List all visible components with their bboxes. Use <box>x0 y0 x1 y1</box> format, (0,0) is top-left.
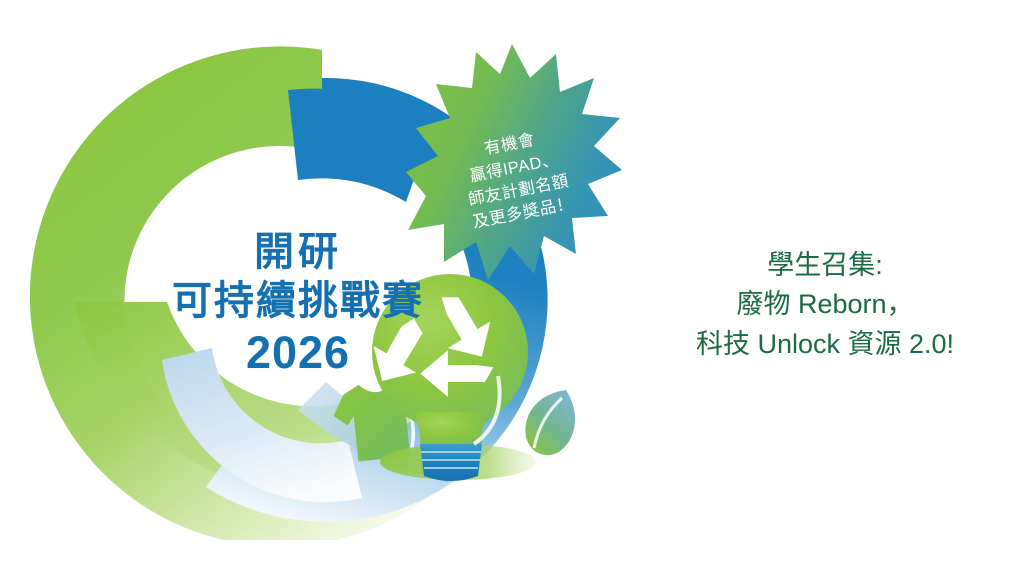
student-call-slogan: 學生召集: 廢物 Reborn， 科技 Unlock 資源 2.0! <box>660 246 990 364</box>
slogan-line-1: 學生召集: <box>660 246 990 285</box>
campaign-banner: 開研 可持續挑戰賽 2026 有機會 贏得IPAD、 師友計劃名額 及更多獎品！ <box>0 0 1024 564</box>
prize-starburst-badge: 有機會 贏得IPAD、 師友計劃名額 及更多獎品！ <box>404 42 624 292</box>
slogan-line-3: 科技 Unlock 資源 2.0! <box>660 325 990 364</box>
leaf-icon <box>525 390 575 455</box>
slogan-line-2: 廢物 Reborn， <box>660 285 990 324</box>
starburst-shape <box>404 42 624 292</box>
